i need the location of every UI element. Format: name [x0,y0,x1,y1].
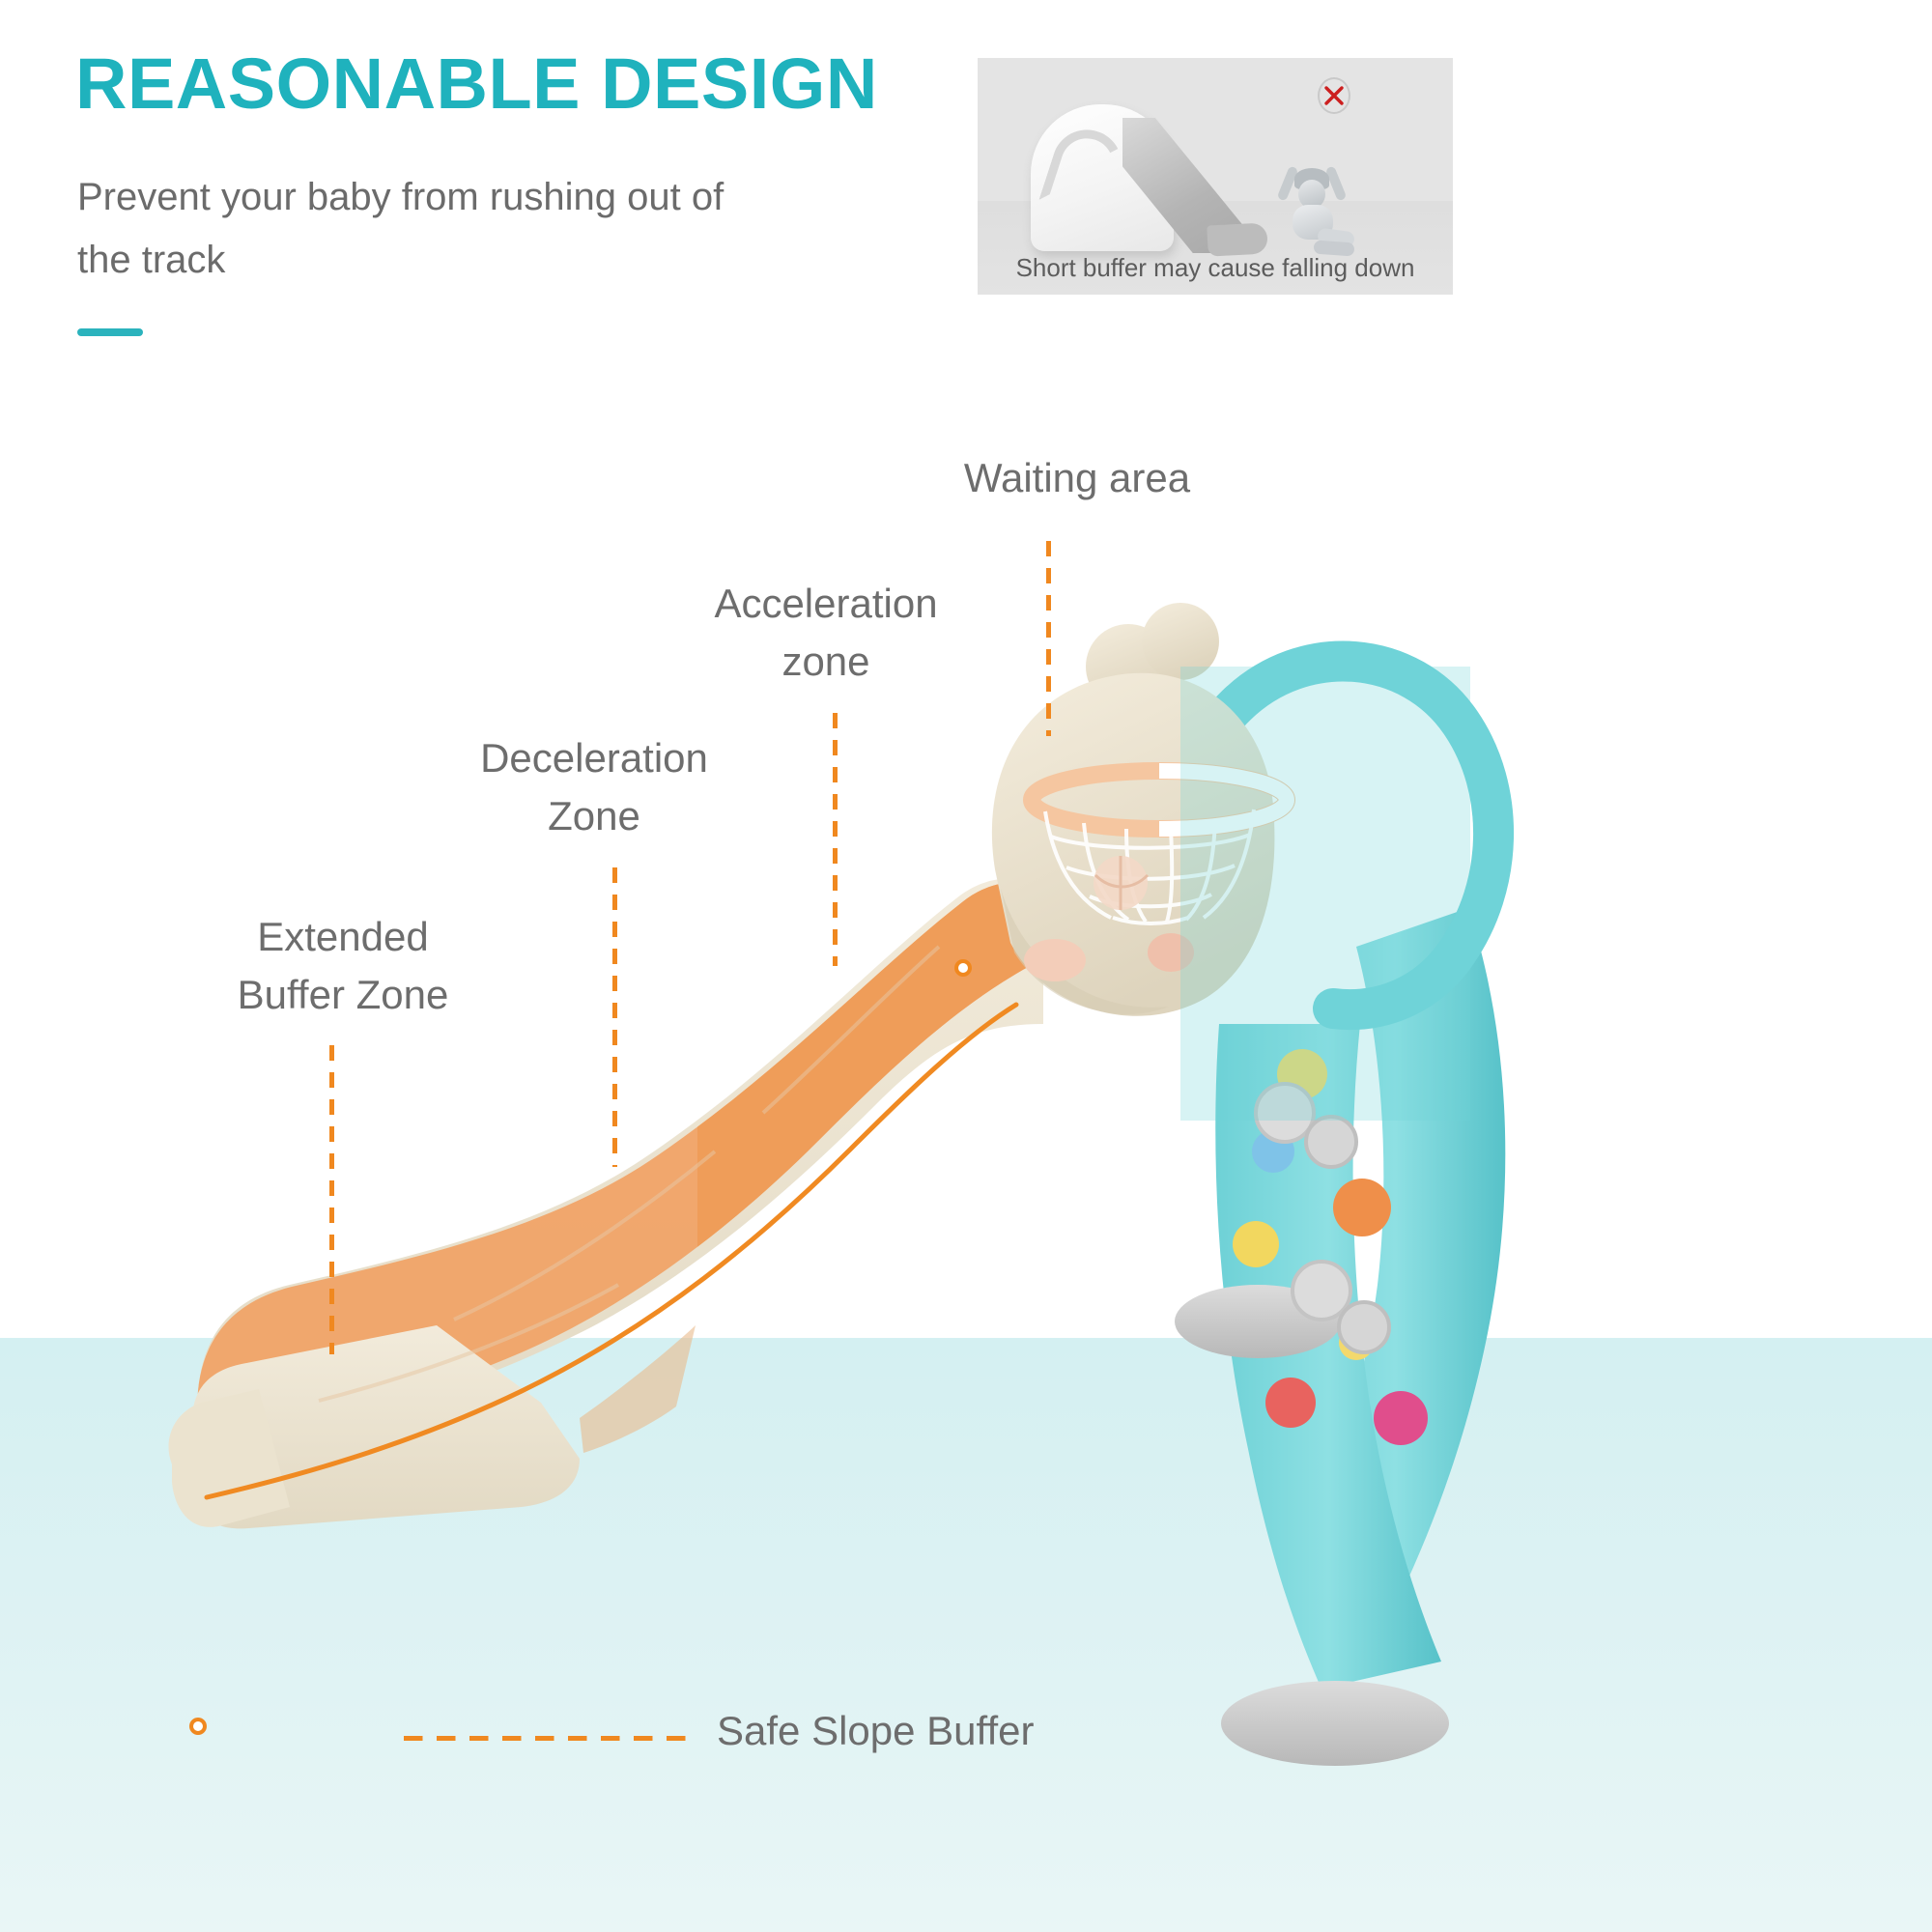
endpoint-dot-waiting-area [954,959,972,977]
callout-safe-slope-buffer: Safe Slope Buffer [717,1702,1103,1760]
dot-yellow-2 [1233,1221,1279,1267]
endpoint-dot-safe-slope-buffer [189,1718,207,1735]
leader-line-safe-slope-buffer [404,1736,694,1741]
dot-pink-1 [1374,1391,1428,1445]
leader-line-deceleration-zone [612,867,617,1167]
callout-deceleration-zone: Deceleration Zone [444,729,744,844]
leader-line-waiting-area [1046,541,1051,736]
knob-3 [1293,1262,1350,1320]
bear-snout [1024,939,1086,981]
knob-4 [1339,1302,1389,1352]
frame-foot-front [1221,1681,1449,1766]
callout-waiting-area: Waiting area [918,449,1236,507]
leader-line-extended-buffer-zone [329,1045,334,1354]
bear-ear-right [1142,603,1219,680]
bear-cheek [1148,933,1194,972]
knob-1 [1256,1084,1314,1142]
callout-acceleration-zone: Acceleration zone [676,575,976,690]
knob-2 [1306,1117,1356,1167]
product-illustration: Waiting area Acceleration zone Decelerat… [0,0,1932,1932]
dot-orange-1 [1333,1179,1391,1236]
dot-red-1 [1265,1378,1316,1428]
callout-extended-buffer-zone: Extended Buffer Zone [188,908,497,1023]
leader-line-acceleration-zone [833,713,838,966]
